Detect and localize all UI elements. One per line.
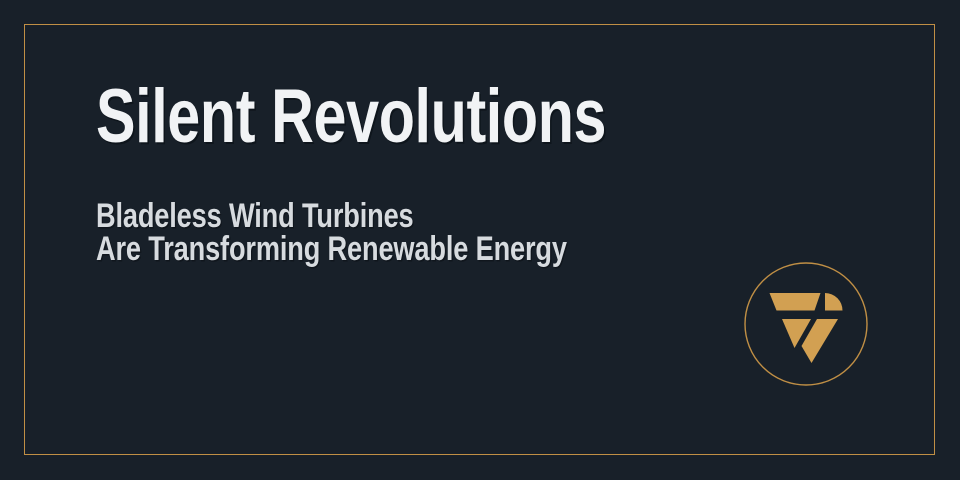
turbine-v-emblem-icon bbox=[744, 262, 868, 386]
logo-top-bar bbox=[770, 293, 821, 311]
brand-logo bbox=[744, 262, 868, 386]
logo-corner-wedge bbox=[825, 293, 843, 311]
subtitle-line-1: Bladeless Wind Turbines bbox=[96, 200, 656, 233]
subtitle-line-2: Are Transforming Renewable Energy bbox=[96, 233, 656, 266]
page-title: Silent Revolutions bbox=[96, 78, 595, 156]
subtitle-block: Bladeless Wind Turbines Are Transforming… bbox=[96, 200, 796, 266]
headline-block: Silent Revolutions bbox=[96, 78, 736, 156]
title-slide: Silent Revolutions Bladeless Wind Turbin… bbox=[0, 0, 960, 480]
